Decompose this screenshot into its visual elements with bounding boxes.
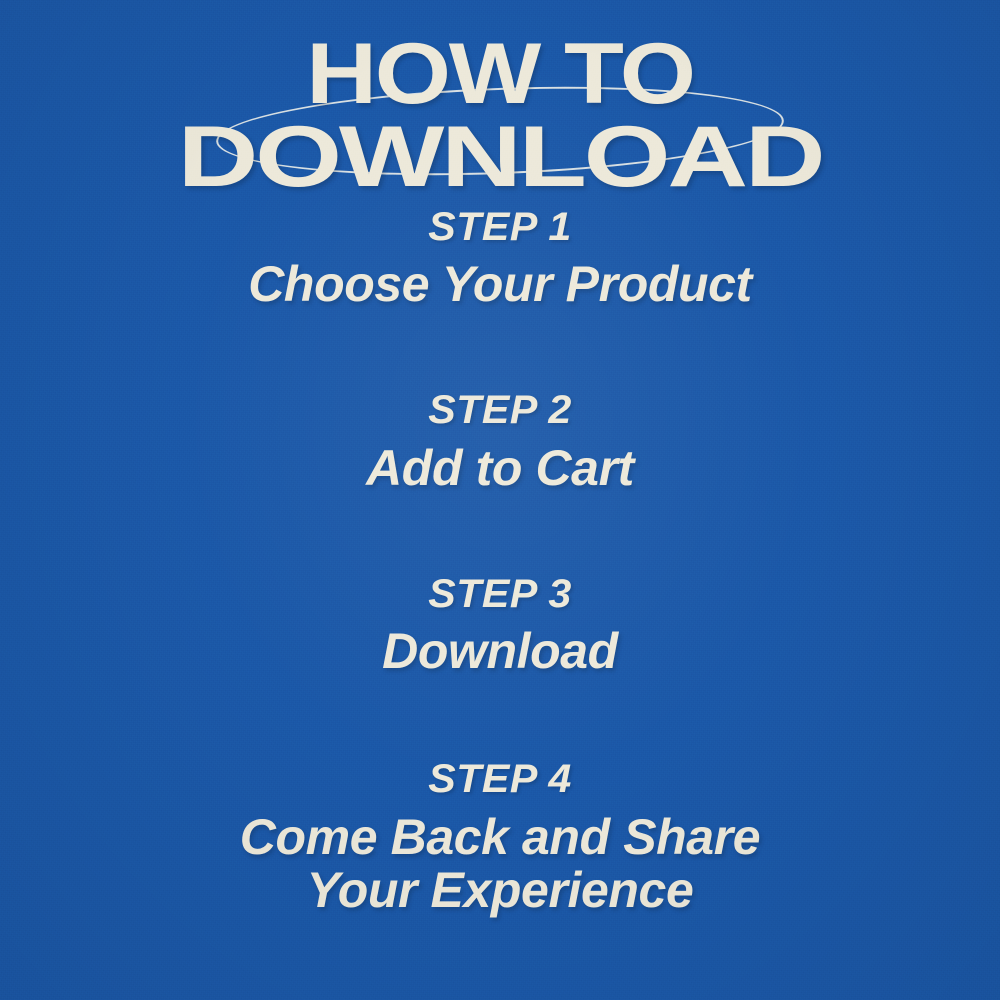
step-item-2: STEP 2 Add to Cart: [0, 389, 1000, 494]
title-line-download: DOWNLOAD: [0, 117, 1000, 198]
title-line-how-to: HOW TO: [0, 34, 1000, 115]
step-description-3: Download: [0, 625, 1000, 678]
step-description-4-line-1: Come Back and Share: [240, 809, 760, 865]
step-item-4: STEP 4 Come Back and Share Your Experien…: [0, 758, 1000, 916]
how-to-download-poster: HOW TO DOWNLOAD STEP 1 Choose Your Produ…: [0, 0, 1000, 1000]
step-label-4: STEP 4: [0, 758, 1000, 800]
step-description-1: Choose Your Product: [0, 258, 1000, 311]
step-item-3: STEP 3 Download: [0, 573, 1000, 678]
step-description-2: Add to Cart: [0, 442, 1000, 495]
step-label-2: STEP 2: [0, 389, 1000, 431]
step-description-3-line-1: Download: [382, 623, 618, 679]
step-label-1: STEP 1: [0, 206, 1000, 248]
steps-list: STEP 1 Choose Your Product STEP 2 Add to…: [0, 206, 1000, 917]
step-description-4: Come Back and Share Your Experience: [0, 811, 1000, 917]
step-label-3: STEP 3: [0, 573, 1000, 615]
step-item-1: STEP 1 Choose Your Product: [0, 206, 1000, 311]
poster-title: HOW TO DOWNLOAD: [0, 34, 1000, 198]
step-description-4-line-2: Your Experience: [0, 864, 1000, 917]
step-description-2-line-1: Add to Cart: [366, 440, 634, 496]
step-description-1-line-1: Choose Your Product: [248, 256, 752, 312]
